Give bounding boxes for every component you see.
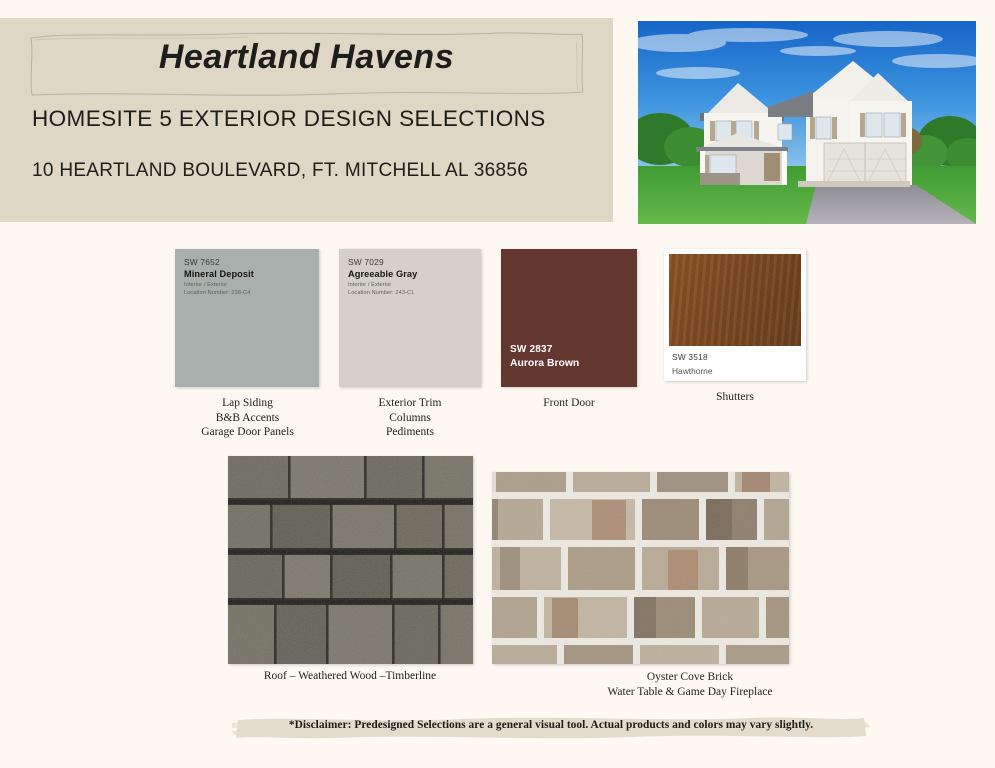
swatch-meta: Interior / Exterior xyxy=(348,282,481,288)
swatch-name: Hawthorne xyxy=(672,366,713,376)
swatch-code: SW 3518 xyxy=(672,352,713,362)
shingle-texture xyxy=(228,456,473,664)
caption-line: Roof – Weathered Wood –Timberline xyxy=(200,669,500,684)
caption-line: Columns xyxy=(320,411,500,426)
caption-roof: Roof – Weathered Wood –Timberline xyxy=(200,669,500,684)
page-subtitle: HOMESITE 5 EXTERIOR DESIGN SELECTIONS xyxy=(32,106,592,132)
caption-line: Pediments xyxy=(320,425,500,440)
paint-swatch-mineral-deposit[interactable]: SW 7652 Mineral Deposit Interior / Exter… xyxy=(175,249,319,387)
material-tile-brick[interactable] xyxy=(492,472,789,664)
caption-line: Garage Door Panels xyxy=(155,425,340,440)
caption-line: Exterior Trim xyxy=(320,396,500,411)
caption-shutters: Shutters xyxy=(655,390,815,405)
brand-title: Heartland Havens xyxy=(0,38,613,77)
wood-stain-chip xyxy=(669,254,801,346)
swatch-code: SW 7652 xyxy=(184,257,319,267)
caption-brick: Oyster Cove Brick Water Table & Game Day… xyxy=(540,670,840,699)
swatch-name: Mineral Deposit xyxy=(184,269,319,279)
caption-lap-siding: Lap Siding B&B Accents Garage Door Panel… xyxy=(155,396,340,440)
caption-line: Shutters xyxy=(655,390,815,405)
swatch-location: Location Number: 238-C4 xyxy=(184,290,319,296)
paint-swatch-hawthorne[interactable]: SW 3518 Hawthorne xyxy=(664,249,806,381)
paint-swatch-aurora-brown[interactable]: SW 2837 Aurora Brown xyxy=(501,249,637,387)
swatch-meta: Interior / Exterior xyxy=(184,282,319,288)
caption-line: Water Table & Game Day Fireplace xyxy=(540,685,840,700)
swatch-code: SW 7029 xyxy=(348,257,481,267)
caption-line: Front Door xyxy=(489,396,649,411)
swatch-code: SW 2837 xyxy=(510,344,579,355)
paint-swatch-agreeable-gray[interactable]: SW 7029 Agreeable Gray Interior / Exteri… xyxy=(339,249,481,387)
swatch-name: Agreeable Gray xyxy=(348,269,481,279)
caption-front-door: Front Door xyxy=(489,396,649,411)
brick-texture xyxy=(492,472,789,664)
caption-line: Oyster Cove Brick xyxy=(540,670,840,685)
site-address: 10 HEARTLAND BOULEVARD, FT. MITCHELL AL … xyxy=(32,160,592,182)
material-tile-roof-shingle[interactable] xyxy=(228,456,473,664)
swatch-location: Location Number: 243-C1 xyxy=(348,290,481,296)
caption-line: B&B Accents xyxy=(155,411,340,426)
swatch-name: Aurora Brown xyxy=(510,358,579,369)
caption-line: Lap Siding xyxy=(155,396,340,411)
house-rendering-photo xyxy=(638,21,976,224)
disclaimer-text: *Disclaimer: Predesigned Selections are … xyxy=(232,719,870,731)
caption-exterior-trim: Exterior Trim Columns Pediments xyxy=(320,396,500,440)
